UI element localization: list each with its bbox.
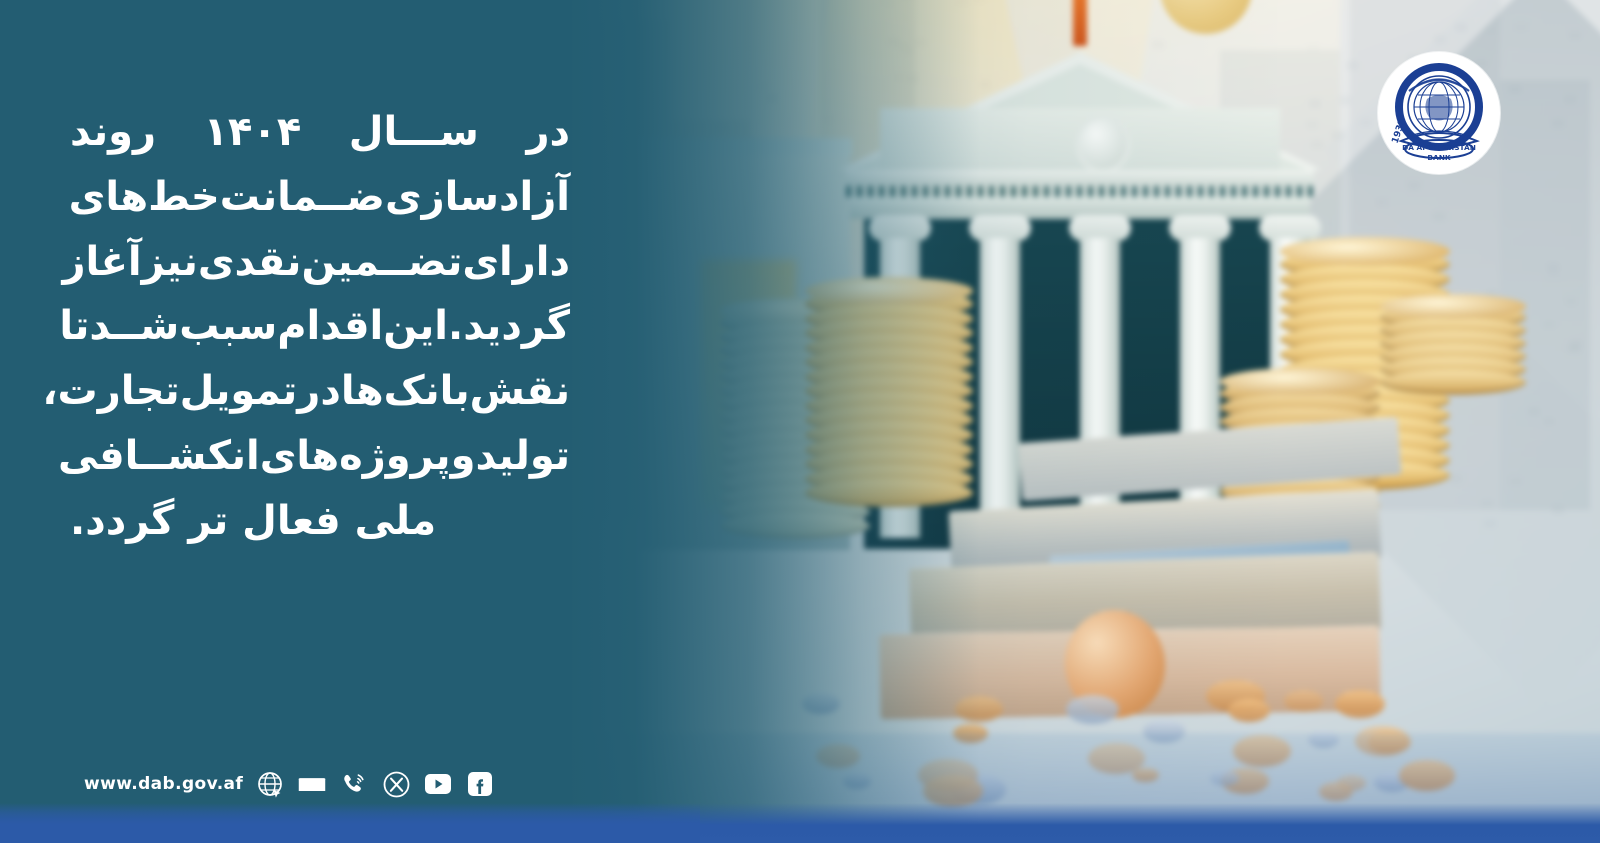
- headline-line: تولیدوپروژه‌هایانکشــافی: [70, 424, 570, 489]
- coin: [1284, 690, 1323, 712]
- column: [1180, 238, 1220, 538]
- banner-canvas: درســـال۱۴۰۴روند آزادسازیضــمانتخطهای دا…: [0, 0, 1600, 843]
- logo-org-line1: DA AFGHANISTAN: [1402, 143, 1476, 152]
- headline-text: درســـال۱۴۰۴روند آزادسازیضــمانتخطهای دا…: [70, 100, 570, 554]
- logo-org-line2: BANK: [1427, 153, 1451, 162]
- skyline-window: [1339, 96, 1351, 105]
- skyline-window: [600, 315, 612, 324]
- coin-top: [1220, 368, 1380, 395]
- coin: [1380, 370, 1526, 395]
- website-url[interactable]: www.dab.gov.af: [84, 774, 243, 794]
- globe-icon[interactable]: [255, 769, 285, 799]
- headline-line: نقشبانک‌هادرتمویلتجارت،: [70, 359, 570, 424]
- building-side-wing-cornice: [638, 138, 852, 156]
- youtube-icon[interactable]: [423, 769, 453, 799]
- skyline-window: [607, 393, 619, 402]
- coin: [720, 513, 870, 539]
- orange-spire: [1073, 0, 1087, 46]
- x-twitter-icon[interactable]: [381, 769, 411, 799]
- coin-top: [1380, 294, 1526, 319]
- skyline-window: [615, 498, 627, 507]
- headline-line: ملی فعال تر گردد.: [70, 489, 570, 554]
- coin-top: [1280, 237, 1450, 266]
- headline-line: دارایتضــمیننقدینیزآغاز: [70, 230, 570, 295]
- pediment-medallion: [1075, 114, 1131, 174]
- skyline-window: [572, 424, 584, 433]
- phone-icon[interactable]: [339, 769, 369, 799]
- coin: [955, 696, 1003, 722]
- entablature: [846, 170, 1314, 186]
- skyline-window: [605, 232, 617, 241]
- dentil-molding: [846, 186, 1314, 197]
- column: [980, 238, 1020, 538]
- email-icon[interactable]: [297, 769, 327, 799]
- headline-line: گردید.ایناقدامسببشــدتا: [70, 294, 570, 359]
- skyline-window: [621, 263, 633, 272]
- headline-line: درســـال۱۴۰۴روند: [70, 100, 570, 165]
- social-links: www.dab.gov.af: [70, 769, 495, 799]
- dab-logo: 1939 DA AFGHANISTAN BANK: [1378, 52, 1500, 174]
- table-surface: [560, 733, 1600, 843]
- coin: [1335, 690, 1385, 717]
- headline-line: آزادسازیضــمانتخطهای: [70, 165, 570, 230]
- skyline-window: [1346, 61, 1358, 70]
- skyline-window: [584, 466, 596, 475]
- facebook-icon[interactable]: [465, 769, 495, 799]
